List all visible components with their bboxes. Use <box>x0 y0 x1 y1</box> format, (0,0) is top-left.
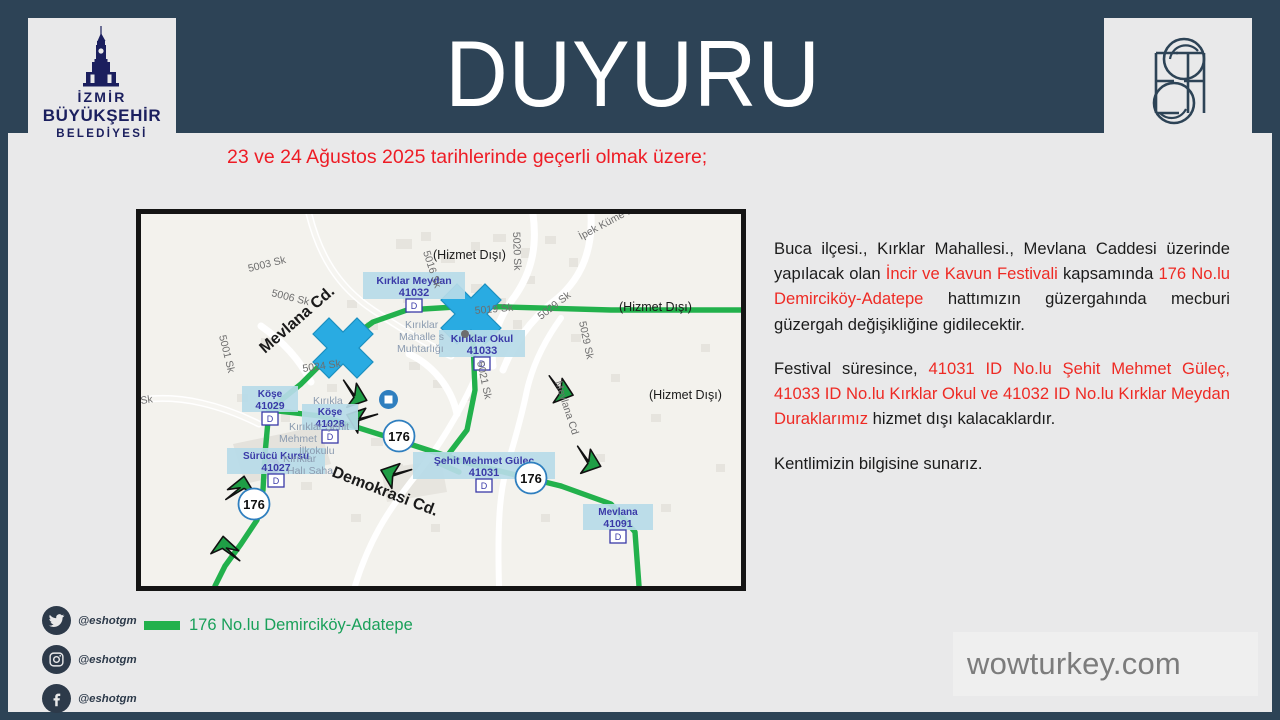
body-text-run: Festival süresince, <box>774 359 929 378</box>
svg-text:Köşe: Köşe <box>258 389 283 400</box>
social-links: @eshotgm @eshotgm @eshotgm <box>42 606 137 713</box>
social-row-facebook[interactable]: @eshotgm <box>42 684 137 713</box>
social-row-instagram[interactable]: @eshotgm <box>42 645 137 674</box>
social-handle-facebook: @eshotgm <box>78 693 137 705</box>
logo-text-belediyesi: BELEDİYESİ <box>56 128 147 140</box>
announcement-paragraph-1: Buca ilçesi., Kırklar Mahallesi., Mevlan… <box>774 236 1230 337</box>
announcement-paragraph-3: Kentlimizin bilgisine sunarız. <box>774 451 1230 476</box>
validity-subtitle: 23 ve 24 Ağustos 2025 tarihlerinde geçer… <box>227 146 707 169</box>
svg-text:Muhtarlığı: Muhtarlığı <box>397 343 444 355</box>
svg-text:Kırıklar Okul: Kırıklar Okul <box>451 333 514 345</box>
legend-label: 176 No.lu Demirciköy-Adatepe <box>189 616 413 635</box>
eshot-monogram-icon <box>1126 29 1230 133</box>
body-text-run: kapsamında <box>1058 264 1159 283</box>
page-title: DUYURU <box>220 18 1046 133</box>
street-label: 5020 Sk <box>510 232 523 272</box>
map-legend: 176 No.lu Demirciköy-Adatepe <box>144 616 413 635</box>
svg-text:D: D <box>267 414 274 424</box>
svg-text:Mahalle s: Mahalle s <box>399 331 444 343</box>
svg-text:176: 176 <box>520 471 542 486</box>
announcement-poster: İZMİR BÜYÜKŞEHİR BELEDİYESİ DUYURU 23 ve… <box>8 8 1272 712</box>
social-row-twitter[interactable]: @eshotgm <box>42 606 137 635</box>
announcement-paragraph-2: Festival süresince, 41031 ID No.lu Şehit… <box>774 356 1230 432</box>
svg-text:D: D <box>327 432 334 442</box>
social-handle-twitter: @eshotgm <box>78 615 137 627</box>
highlight-text: İncir ve Kavun Festivali <box>886 264 1058 283</box>
eshot-logo <box>1104 18 1252 143</box>
svg-text:D: D <box>481 481 488 491</box>
instagram-icon[interactable] <box>42 645 71 674</box>
svg-text:41032: 41032 <box>399 287 430 299</box>
social-handle-instagram: @eshotgm <box>78 654 137 666</box>
body-text-run: hizmet dışı kalacaklardır. <box>868 409 1055 428</box>
announcement-body: Buca ilçesi., Kırklar Mahallesi., Mevlan… <box>774 236 1230 476</box>
route-map[interactable]: Kırklar Meydan 41032 D Kırıklar Okul 410… <box>136 209 746 591</box>
svg-text:41091: 41091 <box>603 518 632 530</box>
svg-text:D: D <box>273 476 280 486</box>
clock-tower-icon <box>71 26 133 88</box>
svg-text:Şehit Mehmet Güleç: Şehit Mehmet Güleç <box>434 455 535 467</box>
svg-text:Kırıklar: Kırıklar <box>405 319 439 331</box>
svg-text:Köşe: Köşe <box>318 407 343 418</box>
svg-text:176: 176 <box>243 497 265 512</box>
svg-text:Mevlana: Mevlana <box>598 507 638 518</box>
logo-text-buyuksehir: BÜYÜKŞEHİR <box>43 106 161 126</box>
svg-text:(Hizmet Dışı): (Hizmet Dışı) <box>619 300 692 314</box>
svg-text:(Hizmet Dışı): (Hizmet Dışı) <box>433 248 506 262</box>
svg-text:Kırıkla: Kırıkla <box>313 395 343 407</box>
logo-text-izmir: İZMİR <box>77 89 126 105</box>
watermark: wowturkey.com <box>953 632 1258 696</box>
svg-text:D: D <box>411 301 418 311</box>
svg-text:İlkokulu: İlkokulu <box>299 444 335 457</box>
facebook-icon[interactable] <box>42 684 71 713</box>
legend-color-swatch <box>144 621 180 630</box>
svg-text:Kırıklar Şehit: Kırıklar Şehit <box>289 421 349 433</box>
svg-text:D: D <box>615 532 622 542</box>
svg-text:41031: 41031 <box>469 467 500 479</box>
body-text-run: Kentlimizin bilgisine sunarız. <box>774 454 982 473</box>
izmir-municipality-logo: İZMİR BÜYÜKŞEHİR BELEDİYESİ <box>28 18 176 143</box>
svg-text:(Hizmet Dışı): (Hizmet Dışı) <box>649 388 722 402</box>
svg-text:41029: 41029 <box>255 400 284 412</box>
svg-text:Mehmet: Mehmet <box>279 433 317 445</box>
svg-text:176: 176 <box>388 429 410 444</box>
twitter-icon[interactable] <box>42 606 71 635</box>
svg-text:41033: 41033 <box>467 345 498 357</box>
svg-text:Halı Saha: Halı Saha <box>287 465 333 477</box>
